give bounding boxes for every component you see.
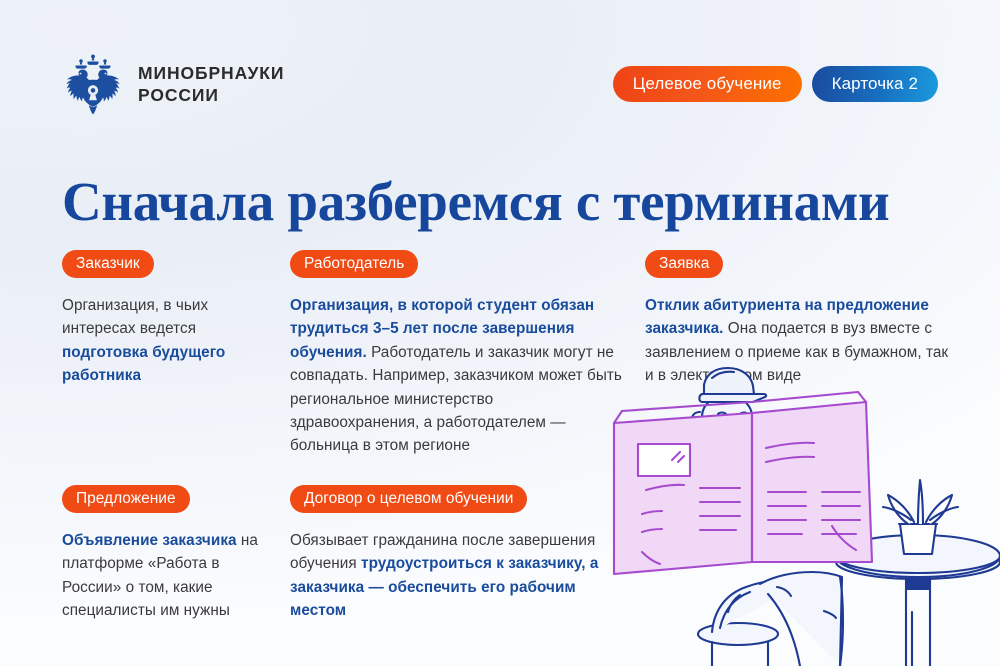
term-zakazchik: Заказчик Организация, в чьих интересах в…: [62, 250, 290, 458]
term-zayavka: Заявка Отклик абитуриента на предложение…: [645, 250, 952, 458]
term-predlozhenie: Предложение Объявление заказчика на плат…: [62, 485, 290, 623]
badge-topic[interactable]: Целевое обучение: [613, 66, 802, 102]
page-title: Сначала разберемся с терминами: [62, 173, 962, 231]
term-body: Объявление заказчика на платформе «Работ…: [62, 529, 272, 623]
terms-grid: Заказчик Организация, в чьих интересах в…: [62, 250, 952, 622]
brand-name: МИНОБРНАУКИ РОССИИ: [138, 62, 284, 107]
terms-row-2: Предложение Объявление заказчика на плат…: [62, 485, 952, 623]
term-body: Организация, в чьих интересах ведется по…: [62, 294, 272, 388]
infographic-card: МИНОБРНАУКИ РОССИИ Целевое обучение Карт…: [0, 0, 1000, 666]
term-body: Обязывает гражданина после завершения об…: [290, 529, 623, 623]
term-tag: Договор о целевом обучении: [290, 485, 527, 513]
term-body: Отклик абитуриента на предложение заказч…: [645, 294, 952, 388]
term-tag: Заявка: [645, 250, 723, 278]
term-rabotodatel: Работодатель Организация, в которой студ…: [290, 250, 645, 458]
terms-row-1: Заказчик Организация, в чьих интересах в…: [62, 250, 952, 458]
brand-block: МИНОБРНАУКИ РОССИИ: [62, 52, 284, 116]
header: МИНОБРНАУКИ РОССИИ Целевое обучение Карт…: [62, 52, 938, 116]
badge-group: Целевое обучение Карточка 2: [613, 66, 938, 102]
term-tag: Предложение: [62, 485, 190, 513]
term-tag: Работодатель: [290, 250, 418, 278]
russian-coat-of-arms-icon: [62, 52, 124, 116]
term-body: Организация, в которой студент обязан тр…: [290, 294, 623, 458]
badge-card-number[interactable]: Карточка 2: [812, 66, 938, 102]
term-dogovor: Договор о целевом обучении Обязывает гра…: [290, 485, 645, 623]
term-tag: Заказчик: [62, 250, 154, 278]
terms-spacer: [645, 485, 952, 623]
